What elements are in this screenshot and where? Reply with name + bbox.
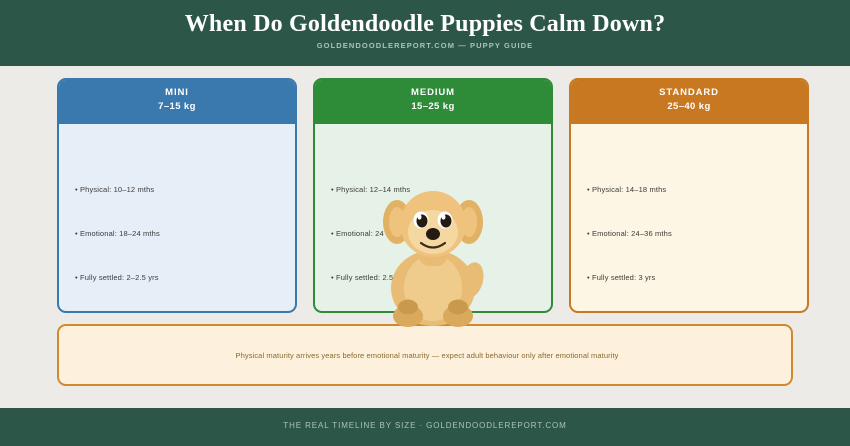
list-item: • Emotional: 24–36 mths (587, 229, 672, 238)
card-body-mini: • Physical: 10–12 mths • Emotional: 18–2… (59, 124, 295, 311)
card-size-label: MEDIUM (313, 86, 553, 99)
card-header-standard: STANDARD 25–40 kg (569, 78, 809, 124)
list-item: • Physical: 10–12 mths (75, 185, 154, 194)
list-item: • Physical: 14–18 mths (587, 185, 666, 194)
summary-note-text: Physical maturity arrives years before e… (59, 351, 795, 360)
header-subtitle: GOLDENDOODLEREPORT.COM — PUPPY GUIDE (0, 41, 850, 50)
summary-note-banner: Physical maturity arrives years before e… (57, 324, 793, 386)
list-item: • Fully settled: 2–2.5 yrs (75, 273, 159, 282)
card-weight-label: 25–40 kg (569, 99, 809, 115)
list-item: • Fully settled: 3 yrs (587, 273, 655, 282)
header-band: When Do Goldendoodle Puppies Calm Down? … (0, 0, 850, 66)
card-header-mini: MINI 7–15 kg (57, 78, 297, 124)
footer-band: THE REAL TIMELINE BY SIZE · GOLDENDOODLE… (0, 408, 850, 446)
card-weight-label: 7–15 kg (57, 99, 297, 115)
card-size-label: MINI (57, 86, 297, 99)
size-card-standard: STANDARD 25–40 kg • Physical: 14–18 mths… (569, 78, 809, 313)
card-header-medium: MEDIUM 15–25 kg (313, 78, 553, 124)
goldendoodle-puppy-icon (381, 188, 493, 328)
card-size-label: STANDARD (569, 86, 809, 99)
list-item: • Emotional: 18–24 mths (75, 229, 160, 238)
footer-text: THE REAL TIMELINE BY SIZE · GOLDENDOODLE… (0, 421, 850, 430)
page-title: When Do Goldendoodle Puppies Calm Down? (0, 11, 850, 38)
card-weight-label: 15–25 kg (313, 99, 553, 115)
size-card-mini: MINI 7–15 kg • Physical: 10–12 mths • Em… (57, 78, 297, 313)
card-body-standard: • Physical: 14–18 mths • Emotional: 24–3… (571, 124, 807, 311)
infographic-canvas: When Do Goldendoodle Puppies Calm Down? … (0, 0, 850, 446)
